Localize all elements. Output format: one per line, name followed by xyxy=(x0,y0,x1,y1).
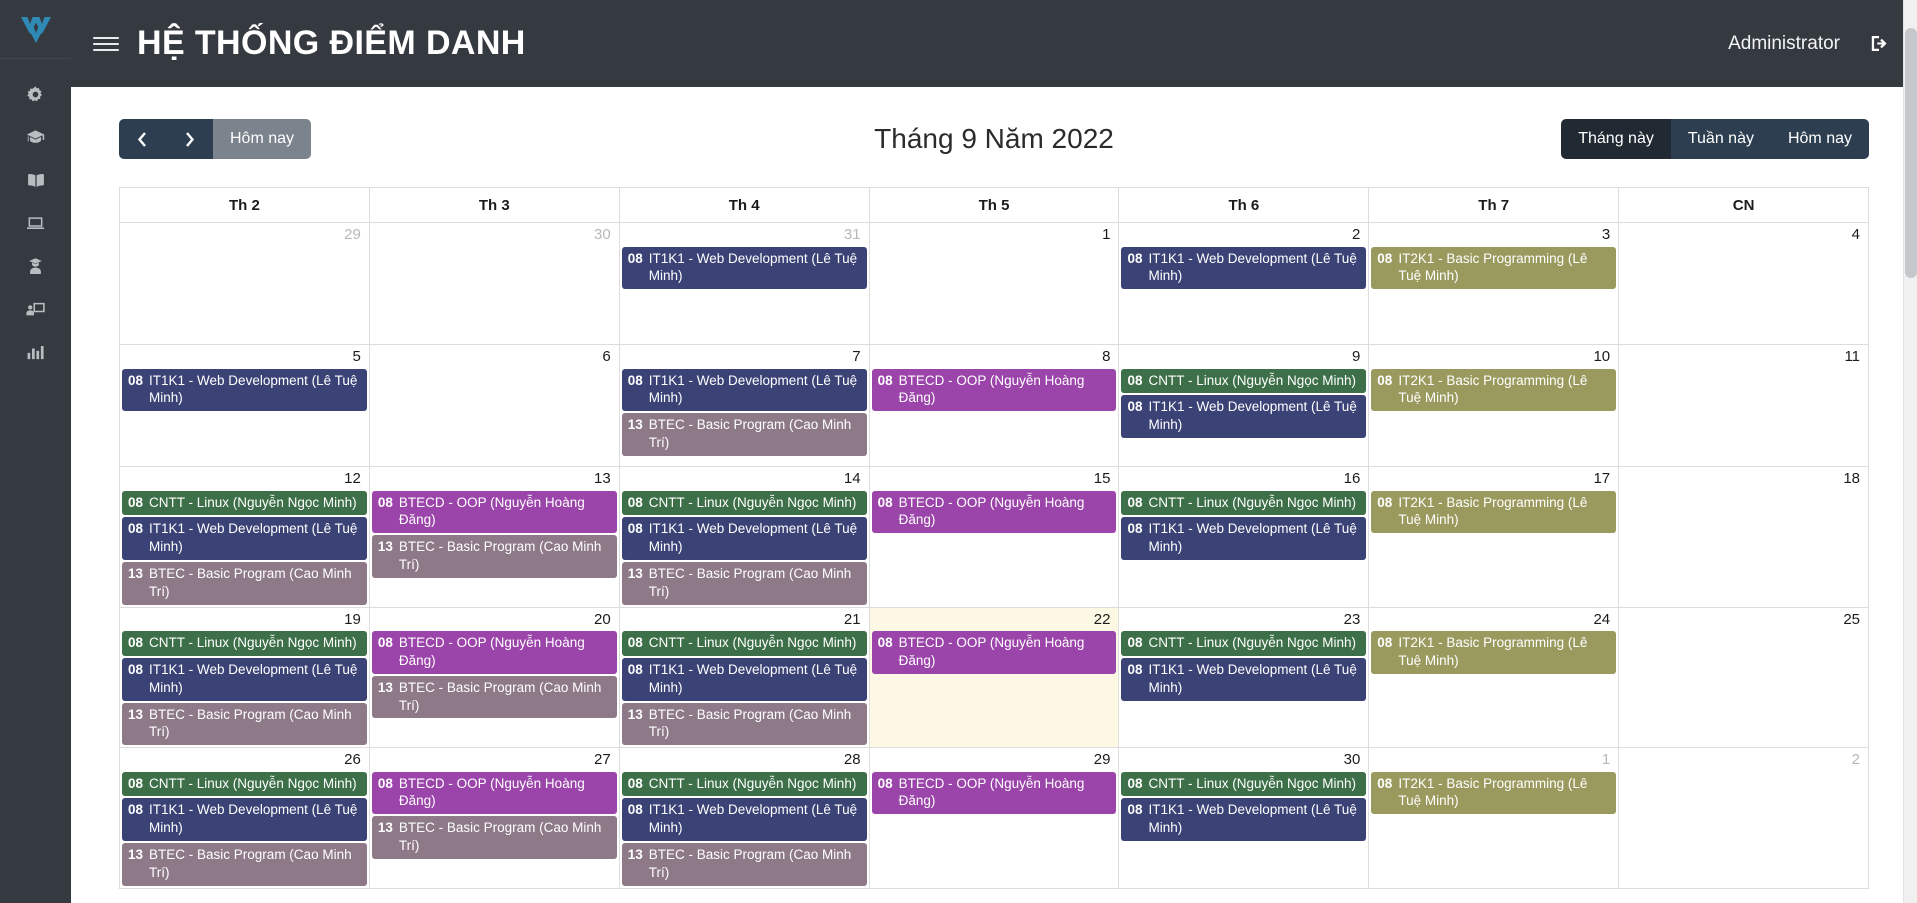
calendar-event[interactable]: 13BTEC - Basic Program (Cao Minh Trí) xyxy=(622,562,867,605)
calendar-event[interactable]: 08BTECD - OOP (Nguyễn Hoàng Đăng) xyxy=(372,772,617,815)
event-time: 08 xyxy=(1377,775,1392,793)
prev-month-button[interactable] xyxy=(119,119,166,159)
view-month-button[interactable]: Tháng này xyxy=(1561,119,1671,159)
sidebar-item-students[interactable] xyxy=(0,245,71,288)
open-book-icon xyxy=(26,171,46,190)
calendar-day-cell[interactable]: 1208CNTT - Linux (Nguyễn Ngọc Minh)08IT1… xyxy=(120,467,370,607)
calendar-day-cell[interactable]: 1308BTECD - OOP (Nguyễn Hoàng Đăng)13BTE… xyxy=(370,467,620,607)
event-time: 08 xyxy=(1377,250,1392,268)
event-title: CNTT - Linux (Nguyễn Ngọc Minh) xyxy=(649,775,861,793)
event-time: 08 xyxy=(378,775,393,793)
day-events: 08CNTT - Linux (Nguyễn Ngọc Minh)08IT1K1… xyxy=(1119,631,1368,700)
calendar-week-row: 1908CNTT - Linux (Nguyễn Ngọc Minh)08IT1… xyxy=(120,608,1869,749)
event-title: BTECD - OOP (Nguyễn Hoàng Đăng) xyxy=(899,775,1111,811)
event-time: 13 xyxy=(378,819,393,837)
day-header: Th 5 xyxy=(870,188,1120,222)
event-time: 08 xyxy=(128,775,143,793)
sidebar-item-courses[interactable] xyxy=(0,116,71,159)
chart-bar-icon xyxy=(26,343,45,362)
calendar-event[interactable]: 08IT1K1 - Web Development (Lê Tuệ Minh) xyxy=(622,517,867,560)
day-events: 08CNTT - Linux (Nguyễn Ngọc Minh)08IT1K1… xyxy=(620,772,869,886)
logout-icon[interactable] xyxy=(1868,33,1891,54)
day-number: 30 xyxy=(370,223,619,247)
day-header: Th 2 xyxy=(120,188,370,222)
calendar-event[interactable]: 08IT1K1 - Web Development (Lê Tuệ Minh) xyxy=(122,798,367,841)
event-title: CNTT - Linux (Nguyễn Ngọc Minh) xyxy=(1148,775,1360,793)
day-events: 08BTECD - OOP (Nguyễn Hoàng Đăng)13BTEC … xyxy=(370,631,619,718)
calendar-event[interactable]: 13BTEC - Basic Program (Cao Minh Trí) xyxy=(622,843,867,886)
calendar-event[interactable]: 08IT1K1 - Web Development (Lê Tuệ Minh) xyxy=(1121,517,1366,560)
event-time: 08 xyxy=(1127,634,1142,652)
event-time: 08 xyxy=(1377,372,1392,390)
day-events: 08BTECD - OOP (Nguyễn Hoàng Đăng)13BTEC … xyxy=(370,491,619,578)
day-number: 25 xyxy=(1619,608,1868,632)
app-root: HỆ THỐNG ĐIỂM DANH Administrator xyxy=(0,0,1917,903)
calendar-event[interactable]: 08CNTT - Linux (Nguyễn Ngọc Minh) xyxy=(1121,369,1366,394)
day-events: 08CNTT - Linux (Nguyễn Ngọc Minh)08IT1K1… xyxy=(620,631,869,745)
next-month-button[interactable] xyxy=(166,119,213,159)
day-number: 13 xyxy=(370,467,619,491)
day-number: 9 xyxy=(1119,345,1368,369)
event-title: IT1K1 - Web Development (Lê Tuệ Minh) xyxy=(1148,801,1360,837)
laptop-icon xyxy=(25,214,46,233)
calendar-grid: Th 2 Th 3 Th 4 Th 5 Th 6 Th 7 CN 2930310… xyxy=(119,187,1869,889)
event-time: 13 xyxy=(128,846,143,864)
calendar-weeks: 29303108IT1K1 - Web Development (Lê Tuệ … xyxy=(120,223,1869,889)
event-title: CNTT - Linux (Nguyễn Ngọc Minh) xyxy=(149,775,361,793)
event-time: 08 xyxy=(1127,775,1142,793)
day-number: 11 xyxy=(1619,345,1868,369)
calendar-day-cell[interactable]: 3108IT1K1 - Web Development (Lê Tuệ Minh… xyxy=(620,223,870,344)
event-time: 08 xyxy=(128,801,143,819)
day-events: 08IT2K1 - Basic Programming (Lê Tuệ Minh… xyxy=(1369,631,1618,674)
day-number: 16 xyxy=(1119,467,1368,491)
day-events: 08CNTT - Linux (Nguyễn Ngọc Minh)08IT1K1… xyxy=(1119,772,1368,841)
event-time: 08 xyxy=(628,634,643,652)
calendar-event[interactable]: 08CNTT - Linux (Nguyễn Ngọc Minh) xyxy=(122,491,367,516)
sidebar-item-settings[interactable] xyxy=(0,73,71,116)
event-title: IT1K1 - Web Development (Lê Tuệ Minh) xyxy=(1148,398,1360,434)
calendar-event[interactable]: 13BTEC - Basic Program (Cao Minh Trí) xyxy=(372,676,617,719)
event-title: BTECD - OOP (Nguyễn Hoàng Đăng) xyxy=(399,494,611,530)
calendar-day-cell[interactable]: 1 xyxy=(870,223,1120,344)
day-number: 15 xyxy=(870,467,1119,491)
calendar-day-cell[interactable]: 2008BTECD - OOP (Nguyễn Hoàng Đăng)13BTE… xyxy=(370,608,620,748)
calendar-event[interactable]: 13BTEC - Basic Program (Cao Minh Trí) xyxy=(372,816,617,859)
calendar-event[interactable]: 08IT1K1 - Web Development (Lê Tuệ Minh) xyxy=(1121,395,1366,438)
gear-icon xyxy=(26,85,45,104)
day-events: 08CNTT - Linux (Nguyễn Ngọc Minh)08IT1K1… xyxy=(120,631,369,745)
event-title: BTECD - OOP (Nguyễn Hoàng Đăng) xyxy=(399,775,611,811)
calendar-page: Hôm nay Tháng 9 Năm 2022 Tháng này Tuần … xyxy=(71,87,1917,903)
event-title: IT1K1 - Web Development (Lê Tuệ Minh) xyxy=(649,372,861,408)
calendar-day-cell[interactable]: 2608CNTT - Linux (Nguyễn Ngọc Minh)08IT1… xyxy=(120,748,370,888)
day-events: 08CNTT - Linux (Nguyễn Ngọc Minh)08IT1K1… xyxy=(120,772,369,886)
day-events: 08CNTT - Linux (Nguyễn Ngọc Minh)08IT1K1… xyxy=(1119,491,1368,560)
event-title: CNTT - Linux (Nguyễn Ngọc Minh) xyxy=(649,494,861,512)
calendar-day-cell[interactable]: 2 xyxy=(1619,748,1869,888)
calendar-day-cell[interactable]: 2108CNTT - Linux (Nguyễn Ngọc Minh)08IT1… xyxy=(620,608,870,748)
calendar-event[interactable]: 08IT1K1 - Web Development (Lê Tuệ Minh) xyxy=(1121,658,1366,701)
calendar-day-cell[interactable]: 1408CNTT - Linux (Nguyễn Ngọc Minh)08IT1… xyxy=(620,467,870,607)
calendar-event[interactable]: 08CNTT - Linux (Nguyễn Ngọc Minh) xyxy=(622,631,867,656)
calendar-day-cell[interactable]: 2408IT2K1 - Basic Programming (Lê Tuệ Mi… xyxy=(1369,608,1619,748)
day-number: 29 xyxy=(870,748,1119,772)
day-number: 3 xyxy=(1369,223,1618,247)
day-number: 26 xyxy=(120,748,369,772)
calendar-day-cell[interactable]: 3008CNTT - Linux (Nguyễn Ngọc Minh)08IT1… xyxy=(1119,748,1369,888)
calendar-toolbar: Hôm nay Tháng 9 Năm 2022 Tháng này Tuần … xyxy=(119,119,1869,159)
event-time: 08 xyxy=(628,801,643,819)
calendar-event[interactable]: 08IT2K1 - Basic Programming (Lê Tuệ Minh… xyxy=(1371,247,1616,290)
calendar-event[interactable]: 08IT2K1 - Basic Programming (Lê Tuệ Minh… xyxy=(1371,369,1616,412)
event-title: CNTT - Linux (Nguyễn Ngọc Minh) xyxy=(149,494,361,512)
day-events: 08CNTT - Linux (Nguyễn Ngọc Minh)08IT1K1… xyxy=(620,491,869,605)
event-title: BTEC - Basic Program (Cao Minh Trí) xyxy=(649,565,861,601)
chevron-left-icon xyxy=(137,131,148,148)
event-time: 13 xyxy=(128,706,143,724)
calendar-day-cell[interactable]: 108IT2K1 - Basic Programming (Lê Tuệ Min… xyxy=(1369,748,1619,888)
event-title: CNTT - Linux (Nguyễn Ngọc Minh) xyxy=(1148,494,1360,512)
calendar-day-headers: Th 2 Th 3 Th 4 Th 5 Th 6 Th 7 CN xyxy=(120,188,1869,223)
day-events: 08IT2K1 - Basic Programming (Lê Tuệ Minh… xyxy=(1369,772,1618,815)
day-number: 7 xyxy=(620,345,869,369)
day-number: 28 xyxy=(620,748,869,772)
event-title: IT1K1 - Web Development (Lê Tuệ Minh) xyxy=(1148,520,1360,556)
day-events: 08BTECD - OOP (Nguyễn Hoàng Đăng) xyxy=(870,491,1119,534)
event-title: BTEC - Basic Program (Cao Minh Trí) xyxy=(399,819,611,855)
calendar-event[interactable]: 08CNTT - Linux (Nguyễn Ngọc Minh) xyxy=(1121,631,1366,656)
calendar-event[interactable]: 08BTECD - OOP (Nguyễn Hoàng Đăng) xyxy=(872,369,1117,412)
event-time: 08 xyxy=(628,775,643,793)
calendar-week-row: 1208CNTT - Linux (Nguyễn Ngọc Minh)08IT1… xyxy=(120,467,1869,608)
day-number: 6 xyxy=(370,345,619,369)
event-title: IT2K1 - Basic Programming (Lê Tuệ Minh) xyxy=(1398,250,1610,286)
event-time: 08 xyxy=(1377,494,1392,512)
day-number: 1 xyxy=(1369,748,1618,772)
brand-logo[interactable] xyxy=(0,0,71,59)
event-time: 08 xyxy=(1127,520,1142,538)
calendar-day-cell[interactable]: 1008IT2K1 - Basic Programming (Lê Tuệ Mi… xyxy=(1369,345,1619,466)
event-time: 13 xyxy=(378,538,393,556)
calendar-day-cell[interactable]: 308IT2K1 - Basic Programming (Lê Tuệ Min… xyxy=(1369,223,1619,344)
day-header: Th 3 xyxy=(370,188,620,222)
event-time: 08 xyxy=(128,634,143,652)
event-title: BTECD - OOP (Nguyễn Hoàng Đăng) xyxy=(899,494,1111,530)
sidebar-item-rooms[interactable] xyxy=(0,202,71,245)
event-time: 08 xyxy=(128,661,143,679)
event-time: 08 xyxy=(128,494,143,512)
calendar-event[interactable]: 08IT1K1 - Web Development (Lê Tuệ Minh) xyxy=(122,517,367,560)
event-title: CNTT - Linux (Nguyễn Ngọc Minh) xyxy=(149,634,361,652)
event-time: 08 xyxy=(628,661,643,679)
event-title: IT2K1 - Basic Programming (Lê Tuệ Minh) xyxy=(1398,494,1610,530)
sidebar xyxy=(0,0,71,903)
calendar-event[interactable]: 08IT1K1 - Web Development (Lê Tuệ Minh) xyxy=(122,369,367,412)
calendar-day-cell[interactable]: 1908CNTT - Linux (Nguyễn Ngọc Minh)08IT1… xyxy=(120,608,370,748)
calendar-day-cell[interactable]: 11 xyxy=(1619,345,1869,466)
calendar-event[interactable]: 08IT2K1 - Basic Programming (Lê Tuệ Minh… xyxy=(1371,772,1616,815)
calendar-event[interactable]: 08IT1K1 - Web Development (Lê Tuệ Minh) xyxy=(122,658,367,701)
event-title: BTEC - Basic Program (Cao Minh Trí) xyxy=(649,416,861,452)
vertical-scrollbar[interactable] xyxy=(1903,0,1917,903)
event-time: 08 xyxy=(1127,661,1142,679)
day-header: Th 6 xyxy=(1119,188,1369,222)
calendar-day-cell[interactable]: 1708IT2K1 - Basic Programming (Lê Tuệ Mi… xyxy=(1369,467,1619,607)
calendar-event[interactable]: 13BTEC - Basic Program (Cao Minh Trí) xyxy=(372,535,617,578)
day-events: 08CNTT - Linux (Nguyễn Ngọc Minh)08IT1K1… xyxy=(1119,369,1368,438)
page-title: HỆ THỐNG ĐIỂM DANH xyxy=(137,24,526,63)
event-title: IT1K1 - Web Development (Lê Tuệ Minh) xyxy=(649,661,861,697)
day-number: 5 xyxy=(120,345,369,369)
event-time: 13 xyxy=(628,416,643,434)
event-title: CNTT - Linux (Nguyễn Ngọc Minh) xyxy=(1148,372,1360,390)
day-number: 22 xyxy=(870,608,1119,632)
day-number: 4 xyxy=(1619,223,1868,247)
event-time: 13 xyxy=(128,565,143,583)
event-time: 08 xyxy=(878,494,893,512)
event-time: 08 xyxy=(878,372,893,390)
day-events: 08BTECD - OOP (Nguyễn Hoàng Đăng)13BTEC … xyxy=(370,772,619,859)
event-time: 08 xyxy=(128,520,143,538)
day-events: 08BTECD - OOP (Nguyễn Hoàng Đăng) xyxy=(870,631,1119,674)
calendar-event[interactable]: 13BTEC - Basic Program (Cao Minh Trí) xyxy=(122,703,367,746)
day-events: 08IT2K1 - Basic Programming (Lê Tuệ Minh… xyxy=(1369,247,1618,290)
day-number: 29 xyxy=(120,223,369,247)
event-title: IT1K1 - Web Development (Lê Tuệ Minh) xyxy=(149,372,361,408)
day-events: 08IT1K1 - Web Development (Lê Tuệ Minh)1… xyxy=(620,369,869,456)
topbar-right: Administrator xyxy=(1728,33,1891,55)
event-time: 08 xyxy=(1127,372,1142,390)
event-time: 08 xyxy=(878,775,893,793)
day-events: 08IT1K1 - Web Development (Lê Tuệ Minh) xyxy=(1119,247,1368,290)
calendar-day-cell[interactable]: 708IT1K1 - Web Development (Lê Tuệ Minh)… xyxy=(620,345,870,466)
calendar-week-row: 2608CNTT - Linux (Nguyễn Ngọc Minh)08IT1… xyxy=(120,748,1869,889)
calendar-event[interactable]: 08BTECD - OOP (Nguyễn Hoàng Đăng) xyxy=(372,631,617,674)
calendar-view-group: Tháng này Tuần này Hôm nay xyxy=(1561,119,1869,159)
sidebar-item-teachers[interactable] xyxy=(0,288,71,331)
calendar-day-cell[interactable]: 2308CNTT - Linux (Nguyễn Ngọc Minh)08IT1… xyxy=(1119,608,1369,748)
event-time: 08 xyxy=(378,494,393,512)
event-title: IT1K1 - Web Development (Lê Tuệ Minh) xyxy=(649,250,861,286)
calendar-day-cell[interactable]: 25 xyxy=(1619,608,1869,748)
day-number: 2 xyxy=(1619,748,1868,772)
chevron-right-icon xyxy=(184,131,195,148)
calendar-event[interactable]: 08CNTT - Linux (Nguyễn Ngọc Minh) xyxy=(622,772,867,797)
topbar: HỆ THỐNG ĐIỂM DANH Administrator xyxy=(71,0,1917,87)
event-title: BTEC - Basic Program (Cao Minh Trí) xyxy=(399,538,611,574)
event-time: 08 xyxy=(878,634,893,652)
calendar-day-cell[interactable]: 2208BTECD - OOP (Nguyễn Hoàng Đăng) xyxy=(870,608,1120,748)
day-number: 18 xyxy=(1619,467,1868,491)
event-title: BTECD - OOP (Nguyễn Hoàng Đăng) xyxy=(899,634,1111,670)
event-title: BTEC - Basic Program (Cao Minh Trí) xyxy=(149,846,361,882)
day-events: 08BTECD - OOP (Nguyễn Hoàng Đăng) xyxy=(870,369,1119,412)
calendar-event[interactable]: 08CNTT - Linux (Nguyễn Ngọc Minh) xyxy=(122,772,367,797)
calendar-day-cell[interactable]: 29 xyxy=(120,223,370,344)
calendar-day-cell[interactable]: 1508BTECD - OOP (Nguyễn Hoàng Đăng) xyxy=(870,467,1120,607)
event-time: 13 xyxy=(628,846,643,864)
event-time: 13 xyxy=(628,706,643,724)
event-time: 08 xyxy=(628,520,643,538)
event-title: IT1K1 - Web Development (Lê Tuệ Minh) xyxy=(1148,661,1360,697)
calendar-week-row: 508IT1K1 - Web Development (Lê Tuệ Minh)… xyxy=(120,345,1869,467)
event-title: BTEC - Basic Program (Cao Minh Trí) xyxy=(149,565,361,601)
calendar-day-cell[interactable]: 6 xyxy=(370,345,620,466)
day-number: 19 xyxy=(120,608,369,632)
day-number: 17 xyxy=(1369,467,1618,491)
event-title: BTEC - Basic Program (Cao Minh Trí) xyxy=(649,846,861,882)
event-title: IT1K1 - Web Development (Lê Tuệ Minh) xyxy=(1148,250,1360,286)
sidebar-item-statistics[interactable] xyxy=(0,331,71,374)
calendar-event[interactable]: 08CNTT - Linux (Nguyễn Ngọc Minh) xyxy=(1121,772,1366,797)
event-title: BTEC - Basic Program (Cao Minh Trí) xyxy=(649,706,861,742)
event-time: 08 xyxy=(1127,494,1142,512)
view-today-button[interactable]: Hôm nay xyxy=(1771,119,1869,159)
event-time: 08 xyxy=(1127,398,1142,416)
day-number: 23 xyxy=(1119,608,1368,632)
chalkboard-teacher-icon xyxy=(25,300,46,319)
event-time: 13 xyxy=(628,565,643,583)
main-column: HỆ THỐNG ĐIỂM DANH Administrator xyxy=(71,0,1917,903)
calendar-day-cell[interactable]: 208IT1K1 - Web Development (Lê Tuệ Minh) xyxy=(1119,223,1369,344)
calendar-event[interactable]: 08CNTT - Linux (Nguyễn Ngọc Minh) xyxy=(622,491,867,516)
day-events: 08IT1K1 - Web Development (Lê Tuệ Minh) xyxy=(120,369,369,412)
day-number: 8 xyxy=(870,345,1119,369)
calendar-event[interactable]: 13BTEC - Basic Program (Cao Minh Trí) xyxy=(122,843,367,886)
calendar-event[interactable]: 08BTECD - OOP (Nguyễn Hoàng Đăng) xyxy=(372,491,617,534)
calendar-day-cell[interactable]: 1608CNTT - Linux (Nguyễn Ngọc Minh)08IT1… xyxy=(1119,467,1369,607)
event-time: 13 xyxy=(378,679,393,697)
day-number: 24 xyxy=(1369,608,1618,632)
event-title: IT2K1 - Basic Programming (Lê Tuệ Minh) xyxy=(1398,775,1610,811)
calendar-day-cell[interactable]: 4 xyxy=(1619,223,1869,344)
event-title: BTEC - Basic Program (Cao Minh Trí) xyxy=(399,679,611,715)
calendar-day-cell[interactable]: 2908BTECD - OOP (Nguyễn Hoàng Đăng) xyxy=(870,748,1120,888)
calendar-event[interactable]: 08BTECD - OOP (Nguyễn Hoàng Đăng) xyxy=(872,491,1117,534)
day-events: 08IT1K1 - Web Development (Lê Tuệ Minh) xyxy=(620,247,869,290)
calendar-event[interactable]: 08IT1K1 - Web Development (Lê Tuệ Minh) xyxy=(622,369,867,412)
event-time: 08 xyxy=(628,250,643,268)
event-title: IT1K1 - Web Development (Lê Tuệ Minh) xyxy=(649,520,861,556)
day-header: CN xyxy=(1619,188,1869,222)
event-time: 08 xyxy=(378,634,393,652)
event-title: CNTT - Linux (Nguyễn Ngọc Minh) xyxy=(649,634,861,652)
event-time: 08 xyxy=(128,372,143,390)
calendar-event[interactable]: 08CNTT - Linux (Nguyễn Ngọc Minh) xyxy=(1121,491,1366,516)
sidebar-nav xyxy=(0,59,71,374)
calendar-day-cell[interactable]: 2708BTECD - OOP (Nguyễn Hoàng Đăng)13BTE… xyxy=(370,748,620,888)
day-number: 12 xyxy=(120,467,369,491)
calendar-event[interactable]: 08IT1K1 - Web Development (Lê Tuệ Minh) xyxy=(1121,798,1366,841)
day-number: 14 xyxy=(620,467,869,491)
day-number: 2 xyxy=(1119,223,1368,247)
event-title: IT1K1 - Web Development (Lê Tuệ Minh) xyxy=(149,520,361,556)
calendar-event[interactable]: 08BTECD - OOP (Nguyễn Hoàng Đăng) xyxy=(872,772,1117,815)
event-time: 08 xyxy=(1377,634,1392,652)
day-number: 27 xyxy=(370,748,619,772)
scrollbar-thumb[interactable] xyxy=(1905,28,1917,278)
day-number: 10 xyxy=(1369,345,1618,369)
user-name: Administrator xyxy=(1728,33,1840,55)
calendar-day-cell[interactable]: 508IT1K1 - Web Development (Lê Tuệ Minh) xyxy=(120,345,370,466)
today-button[interactable]: Hôm nay xyxy=(213,119,311,159)
view-week-button[interactable]: Tuần này xyxy=(1671,119,1771,159)
calendar-event[interactable]: 08IT1K1 - Web Development (Lê Tuệ Minh) xyxy=(622,658,867,701)
calendar-event[interactable]: 13BTEC - Basic Program (Cao Minh Trí) xyxy=(122,562,367,605)
day-number: 30 xyxy=(1119,748,1368,772)
event-title: IT2K1 - Basic Programming (Lê Tuệ Minh) xyxy=(1398,372,1610,408)
event-title: IT1K1 - Web Development (Lê Tuệ Minh) xyxy=(149,801,361,837)
graduation-cap-icon xyxy=(25,128,46,147)
day-events: 08CNTT - Linux (Nguyễn Ngọc Minh)08IT1K1… xyxy=(120,491,369,605)
day-number: 20 xyxy=(370,608,619,632)
day-header: Th 4 xyxy=(620,188,870,222)
calendar-event[interactable]: 08IT1K1 - Web Development (Lê Tuệ Minh) xyxy=(622,798,867,841)
calendar-day-cell[interactable]: 18 xyxy=(1619,467,1869,607)
calendar-event[interactable]: 13BTEC - Basic Program (Cao Minh Trí) xyxy=(622,703,867,746)
event-time: 08 xyxy=(1127,801,1142,819)
calendar-event[interactable]: 08IT1K1 - Web Development (Lê Tuệ Minh) xyxy=(622,247,867,290)
calendar-event[interactable]: 08IT2K1 - Basic Programming (Lê Tuệ Minh… xyxy=(1371,631,1616,674)
event-time: 08 xyxy=(628,494,643,512)
day-number: 21 xyxy=(620,608,869,632)
sidebar-item-subjects[interactable] xyxy=(0,159,71,202)
day-events: 08IT2K1 - Basic Programming (Lê Tuệ Minh… xyxy=(1369,491,1618,534)
user-graduate-icon xyxy=(26,257,45,276)
calendar-day-cell[interactable]: 2808CNTT - Linux (Nguyễn Ngọc Minh)08IT1… xyxy=(620,748,870,888)
event-title: BTECD - OOP (Nguyễn Hoàng Đăng) xyxy=(899,372,1111,408)
calendar-nav-group: Hôm nay xyxy=(119,119,311,159)
event-title: CNTT - Linux (Nguyễn Ngọc Minh) xyxy=(1148,634,1360,652)
event-title: BTEC - Basic Program (Cao Minh Trí) xyxy=(149,706,361,742)
event-time: 08 xyxy=(628,372,643,390)
calendar-day-cell[interactable]: 908CNTT - Linux (Nguyễn Ngọc Minh)08IT1K… xyxy=(1119,345,1369,466)
event-time: 08 xyxy=(1127,250,1142,268)
calendar-day-cell[interactable]: 30 xyxy=(370,223,620,344)
day-header: Th 7 xyxy=(1369,188,1619,222)
event-title: IT1K1 - Web Development (Lê Tuệ Minh) xyxy=(149,661,361,697)
hamburger-icon[interactable] xyxy=(93,31,119,57)
day-events: 08BTECD - OOP (Nguyễn Hoàng Đăng) xyxy=(870,772,1119,815)
calendar-week-row: 29303108IT1K1 - Web Development (Lê Tuệ … xyxy=(120,223,1869,345)
day-number: 1 xyxy=(870,223,1119,247)
calendar-event[interactable]: 08IT2K1 - Basic Programming (Lê Tuệ Minh… xyxy=(1371,491,1616,534)
calendar-event[interactable]: 08IT1K1 - Web Development (Lê Tuệ Minh) xyxy=(1121,247,1366,290)
event-title: BTECD - OOP (Nguyễn Hoàng Đăng) xyxy=(399,634,611,670)
calendar-event[interactable]: 08CNTT - Linux (Nguyễn Ngọc Minh) xyxy=(122,631,367,656)
calendar-event[interactable]: 13BTEC - Basic Program (Cao Minh Trí) xyxy=(622,413,867,456)
calendar-event[interactable]: 08BTECD - OOP (Nguyễn Hoàng Đăng) xyxy=(872,631,1117,674)
event-title: IT2K1 - Basic Programming (Lê Tuệ Minh) xyxy=(1398,634,1610,670)
day-events: 08IT2K1 - Basic Programming (Lê Tuệ Minh… xyxy=(1369,369,1618,412)
day-number: 31 xyxy=(620,223,869,247)
calendar-day-cell[interactable]: 808BTECD - OOP (Nguyễn Hoàng Đăng) xyxy=(870,345,1120,466)
event-title: IT1K1 - Web Development (Lê Tuệ Minh) xyxy=(649,801,861,837)
chevrons-logo-icon xyxy=(19,14,53,44)
